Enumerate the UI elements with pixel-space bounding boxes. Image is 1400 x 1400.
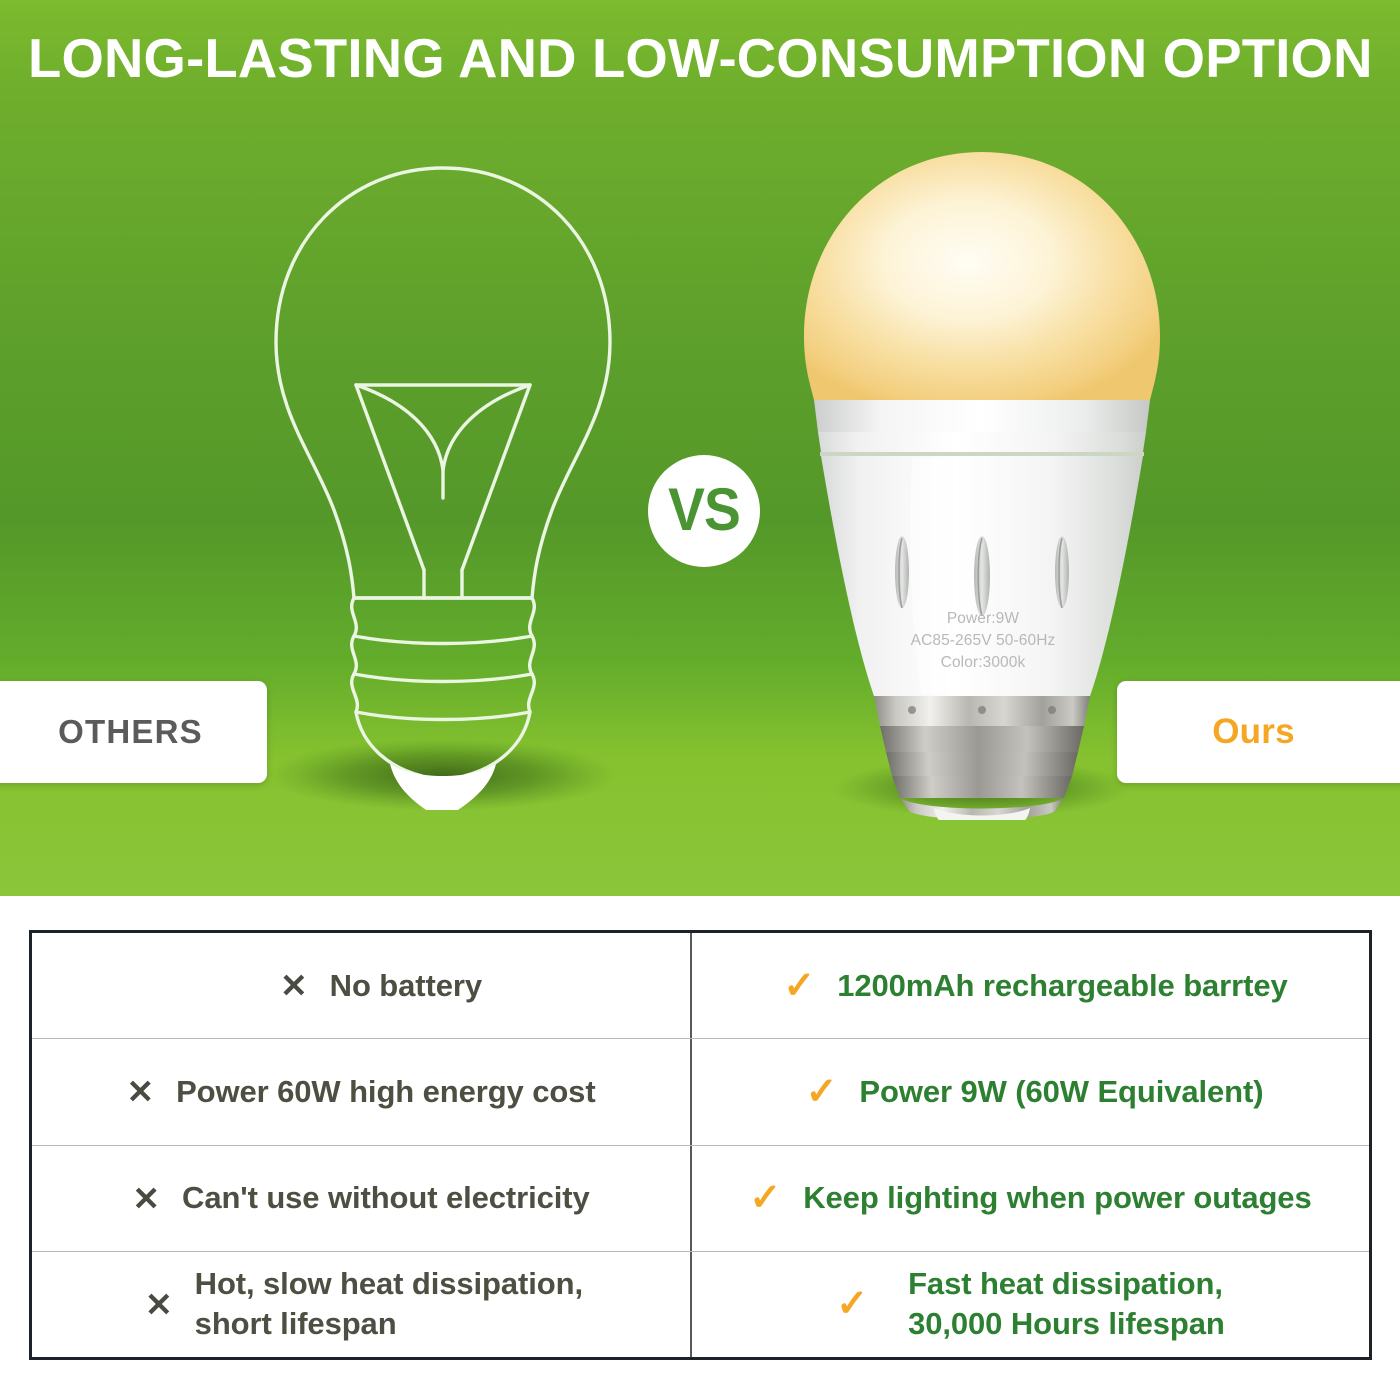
cross-icon: ✕ xyxy=(132,1182,160,1215)
check-icon: ✓ xyxy=(806,1073,838,1111)
others-feature-text: Hot, slow heat dissipation, short lifesp… xyxy=(195,1264,583,1345)
check-icon: ✓ xyxy=(749,1179,781,1217)
vs-badge: VS xyxy=(648,455,760,567)
ours-cell: ✓ Fast heat dissipation, 30,000 Hours li… xyxy=(692,1252,1369,1357)
table-row: ✕ No battery ✓ 1200mAh rechargeable barr… xyxy=(32,933,1369,1039)
table-row: ✕ Can't use without electricity ✓ Keep l… xyxy=(32,1146,1369,1252)
ours-feature-text: Power 9W (60W Equivalent) xyxy=(859,1073,1263,1111)
vs-label: VS xyxy=(668,480,740,540)
table-row: ✕ Hot, slow heat dissipation, short life… xyxy=(32,1252,1369,1357)
ours-label: Ours xyxy=(1212,712,1295,752)
others-feature-text: Can't use without electricity xyxy=(182,1179,590,1217)
others-cell: ✕ Hot, slow heat dissipation, short life… xyxy=(32,1252,692,1357)
check-icon: ✓ xyxy=(783,967,815,1005)
table-row: ✕ Power 60W high energy cost ✓ Power 9W … xyxy=(32,1039,1369,1145)
ours-cell: ✓ Keep lighting when power outages xyxy=(692,1146,1369,1251)
page-title: LONG-LASTING AND LOW-CONSUMPTION OPTION xyxy=(28,30,1365,88)
ours-feature-text: Keep lighting when power outages xyxy=(803,1179,1311,1217)
others-feature-text: Power 60W high energy cost xyxy=(176,1073,595,1111)
comparison-table: ✕ No battery ✓ 1200mAh rechargeable barr… xyxy=(29,930,1372,1360)
ours-cell: ✓ Power 9W (60W Equivalent) xyxy=(692,1039,1369,1144)
hero-banner: LONG-LASTING AND LOW-CONSUMPTION OPTION xyxy=(0,0,1400,896)
ours-feature-text: 1200mAh rechargeable barrtey xyxy=(837,967,1287,1005)
ours-label-plate: Ours xyxy=(1117,681,1400,783)
others-cell: ✕ No battery xyxy=(32,933,692,1038)
others-cell: ✕ Can't use without electricity xyxy=(32,1146,692,1251)
ours-cell: ✓ 1200mAh rechargeable barrtey xyxy=(692,933,1369,1038)
others-cell: ✕ Power 60W high energy cost xyxy=(32,1039,692,1144)
competitor-bulb-outline-illustration xyxy=(238,150,648,810)
cross-icon: ✕ xyxy=(280,969,308,1002)
cross-icon: ✕ xyxy=(145,1288,173,1321)
others-label: OTHERS xyxy=(58,713,203,751)
check-icon: ✓ xyxy=(836,1285,868,1323)
others-label-plate: OTHERS xyxy=(0,681,267,783)
others-feature-text: No battery xyxy=(330,967,482,1005)
ours-feature-text: Fast heat dissipation, 30,000 Hours life… xyxy=(908,1264,1225,1345)
cross-icon: ✕ xyxy=(126,1075,154,1108)
